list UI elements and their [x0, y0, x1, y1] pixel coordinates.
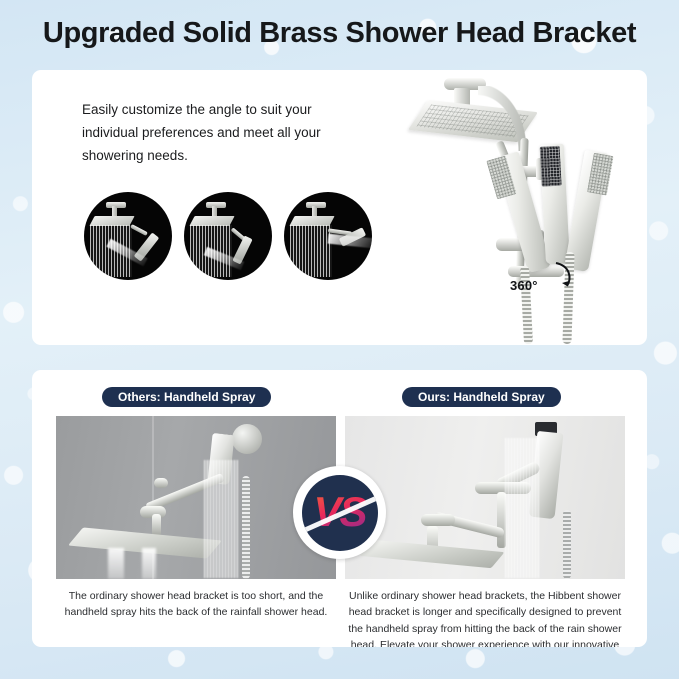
rotation-label: 360° [510, 278, 538, 293]
main-product-illustration: 360° [332, 70, 647, 345]
others-label-badge: Others: Handheld Spray [102, 387, 271, 407]
others-photo [56, 416, 336, 579]
ours-caption: Unlike ordinary shower head brackets, th… [343, 588, 627, 647]
others-caption: The ordinary shower head bracket is too … [56, 588, 336, 621]
ours-shower-hose [563, 510, 571, 579]
rotation-arrow-icon [550, 260, 576, 290]
infographic-page: Upgraded Solid Brass Shower Head Bracket… [0, 0, 679, 679]
ours-spray-stream [505, 438, 539, 578]
intro-text: Easily customize the angle to suit your … [82, 98, 352, 168]
angle-thumbnail-row [84, 192, 372, 280]
ours-photo [345, 416, 625, 579]
others-shower-hose [242, 476, 250, 579]
others-water-overflow-1 [108, 548, 124, 579]
handheld-nozzle-center-icon [540, 146, 562, 187]
others-drop-ell [152, 514, 161, 536]
ours-label-badge: Ours: Handheld Spray [402, 387, 561, 407]
ours-bracket-joint-lower [421, 514, 455, 526]
angle-view-1-thumbnail [84, 192, 172, 280]
versus-badge-circle: VS [302, 475, 378, 551]
versus-badge: VS [293, 466, 386, 559]
others-spray-stream [204, 460, 238, 578]
wall-valve-icon [232, 424, 262, 454]
others-water-overflow-2 [142, 548, 156, 579]
others-bracket-knob [154, 478, 168, 488]
angle-view-2-thumbnail [184, 192, 272, 280]
page-title: Upgraded Solid Brass Shower Head Bracket [0, 17, 679, 50]
bracket-icon [130, 224, 148, 236]
feature-panel: Easily customize the angle to suit your … [32, 70, 647, 345]
rain-water-icon [290, 225, 332, 277]
